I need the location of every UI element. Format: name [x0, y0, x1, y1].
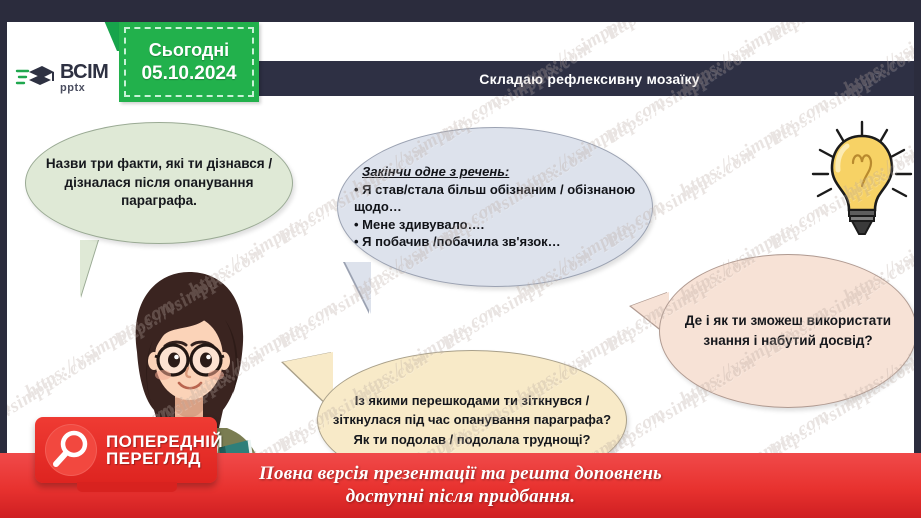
bubble-green-body: Назви три факти, які ти дізнався /дізнал… [25, 122, 293, 244]
graduation-cap-icon [15, 63, 55, 93]
preview-badge-line-2: ПЕРЕГЛЯД [106, 450, 223, 467]
magnifier-icon [45, 424, 97, 476]
preview-badge[interactable]: ПОПЕРЕДНІЙ ПЕРЕГЛЯД [35, 417, 217, 483]
date-badge: Сьогодні 05.10.2024 [119, 22, 259, 102]
bubble-blue-item: • Я побачив /побачила зв'язок… [354, 233, 636, 250]
banner-line-1: Повна версія презентації та решта доповн… [259, 463, 662, 485]
date-badge-label: Сьогодні [149, 40, 229, 61]
bubble-pink-body: Де і як ти зможеш використати знання і н… [659, 254, 914, 408]
bubble-blue: Закінчи одне з речень: • Я став/стала бі… [337, 127, 653, 287]
bubble-pink: Де і як ти зможеш використати знання і н… [659, 254, 914, 408]
brand-logo: ВСІМ pptx [7, 51, 119, 105]
slide-title-bar: Складаю рефлексивну мозаїку [258, 61, 914, 96]
bubble-green-text: Назви три факти, які ти дізнався /дізнал… [26, 155, 292, 211]
preview-badge-line-1: ПОПЕРЕДНІЙ [106, 433, 223, 450]
bubble-blue-content: Закінчи одне з речень: • Я став/стала бі… [338, 164, 652, 250]
brand-name: ВСІМ [60, 62, 108, 82]
lightbulb-icon [807, 118, 914, 238]
slide-root: Назви три факти, які ти дізнався /дізнал… [0, 0, 921, 518]
brand-sub: pptx [60, 83, 108, 94]
brand-logo-text: ВСІМ pptx [60, 62, 108, 94]
bubble-blue-body: Закінчи одне з речень: • Я став/стала бі… [337, 127, 653, 287]
bubble-green: Назви три факти, які ти дізнався /дізнал… [25, 122, 293, 244]
bubble-yellow-text: Із якими перешкодами ти зіткнувся / зітк… [318, 391, 626, 450]
banner-line-2: доступні після придбання. [346, 486, 575, 508]
preview-badge-text: ПОПЕРЕДНІЙ ПЕРЕГЛЯД [106, 433, 223, 468]
bubble-blue-item: • Я став/стала більш обізнаним / обізнан… [354, 181, 636, 215]
bubble-blue-heading: Закінчи одне з речень: [354, 164, 636, 179]
date-badge-value: 05.10.2024 [141, 63, 236, 85]
page-title: Складаю рефлексивну мозаїку [479, 71, 699, 87]
bubble-pink-text: Де і як ти зможеш використати знання і н… [660, 311, 914, 350]
bubble-blue-item: • Мене здивувало…. [354, 216, 636, 233]
